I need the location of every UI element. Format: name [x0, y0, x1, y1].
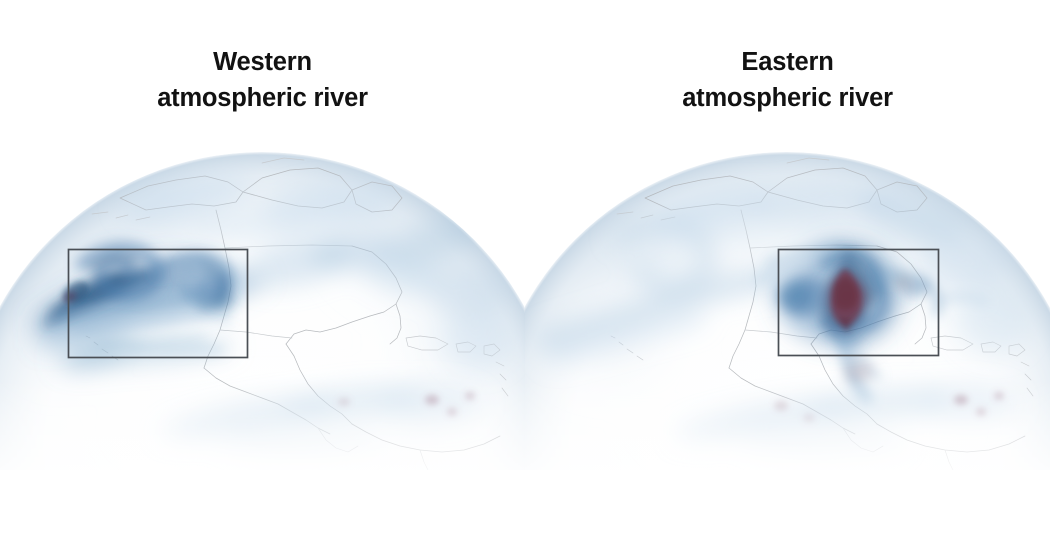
- panel-western: Western atmospheric river: [0, 0, 525, 549]
- globe-render-eastern: [525, 145, 1050, 549]
- globe-eastern: [525, 0, 1050, 549]
- globe-bottom-fade: [525, 380, 1050, 490]
- panel-eastern: Eastern atmospheric river: [525, 0, 1050, 549]
- globe-western: [0, 0, 525, 549]
- globe-render-western: [0, 150, 525, 549]
- globe-bottom-fade: [0, 380, 525, 490]
- atmospheric-river-comparison-figure: Western atmospheric river: [0, 0, 1050, 549]
